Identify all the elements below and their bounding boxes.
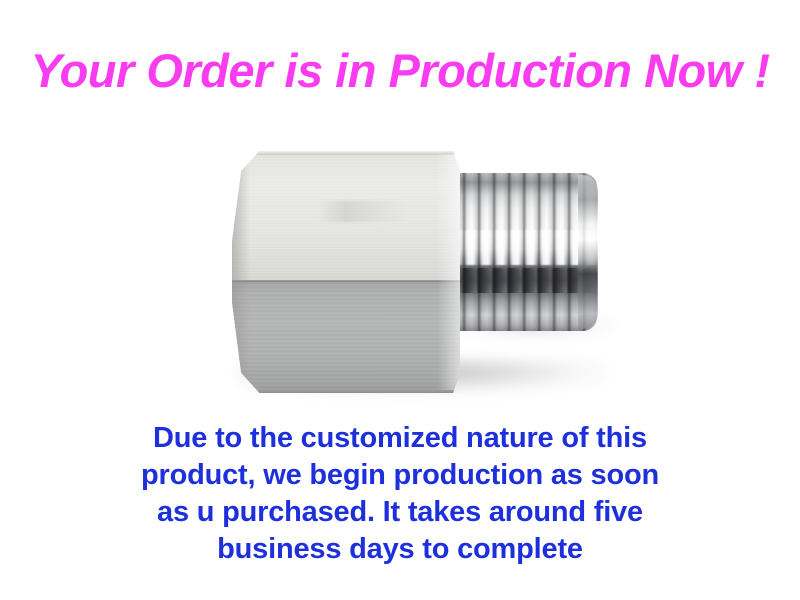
hex-face-seam	[232, 280, 460, 282]
notice-line: Due to the customized nature of this	[0, 420, 800, 457]
hex-nut-body	[232, 146, 460, 398]
production-notice-text: Due to the customized nature of this pro…	[0, 420, 800, 568]
product-photo	[0, 120, 800, 400]
hex-left-chamfer	[232, 161, 250, 383]
hex-bottom-edge	[241, 392, 453, 398]
notice-line: business days to complete	[0, 531, 800, 568]
promo-banner: Your Order is in Production Now ! Due to…	[0, 0, 800, 600]
hex-top-bevel	[237, 150, 456, 155]
page-title: Your Order is in Production Now !	[0, 47, 800, 94]
thread-shadow-band	[449, 268, 595, 293]
hex-machining-scuff	[319, 201, 406, 221]
hex-right-chamfer	[437, 154, 460, 391]
hex-lower-face	[232, 281, 460, 398]
male-threaded-shank	[449, 173, 597, 331]
notice-line: product, we begin production as soon	[0, 457, 800, 494]
thread-end-cap	[578, 175, 598, 329]
notice-line: as u purchased. It takes around five	[0, 494, 800, 531]
thread-specular-highlight	[449, 230, 597, 265]
